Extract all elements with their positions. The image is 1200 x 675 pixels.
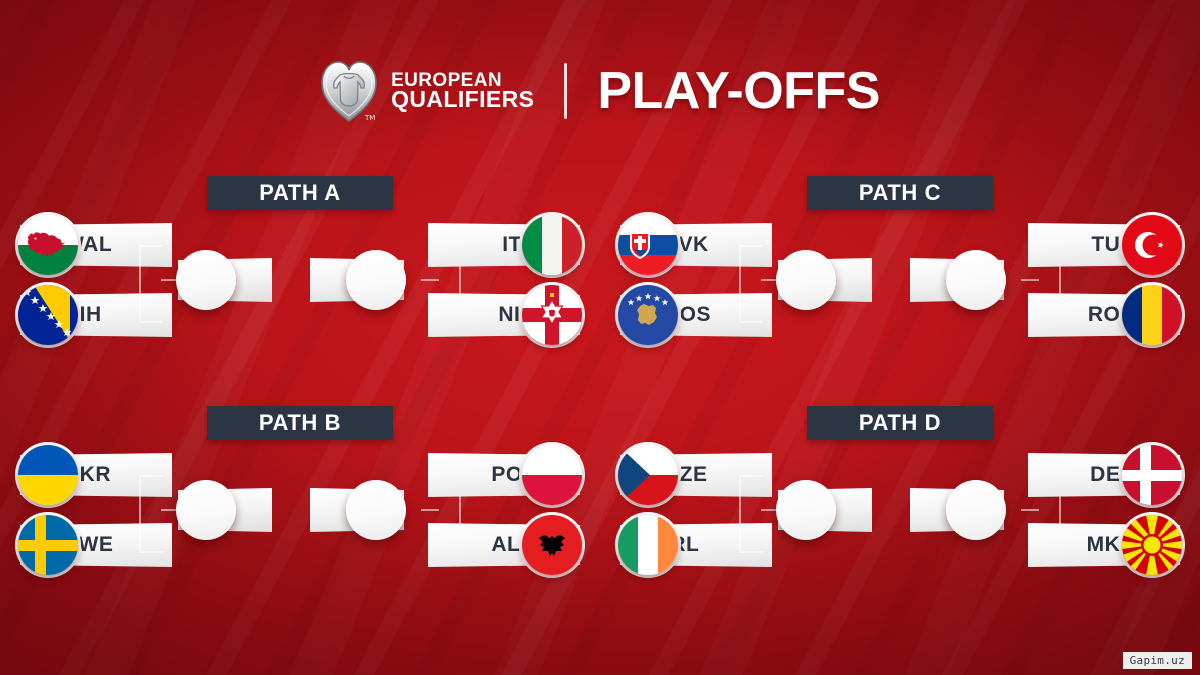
playoff-bracket-graphic: TM EUROPEAN QUALIFIERS PLAY-OFFS PATH A …	[0, 0, 1200, 675]
path-b-stub-right	[421, 509, 439, 511]
flag-ukraine-icon	[18, 445, 78, 505]
flag-north-macedonia-icon	[1122, 515, 1182, 575]
path-a-team-nir[interactable]: NIR	[428, 292, 580, 338]
flag-kosovo-icon	[618, 285, 678, 345]
path-d-final-slot-1[interactable]	[778, 487, 872, 533]
path-d: PATH D CZE IRL DEN	[600, 390, 1200, 620]
empty-flag-placeholder	[346, 250, 406, 310]
path-d-label: PATH D	[807, 406, 993, 440]
path-c-final-slot-2[interactable]	[910, 257, 1004, 303]
flag-albania-icon	[522, 515, 582, 575]
path-b-final-slot-2[interactable]	[310, 487, 404, 533]
path-c: PATH C SVK KOS TUR	[600, 160, 1200, 390]
path-d-stub-right	[1021, 509, 1039, 511]
path-a-connector-left	[139, 245, 163, 323]
path-c-final-slot-1[interactable]	[778, 257, 872, 303]
empty-flag-placeholder	[776, 250, 836, 310]
flag-italy-icon	[522, 215, 582, 275]
paths-grid: PATH A WAL BIH ITA	[0, 160, 1200, 620]
european-qualifiers-wordmark: EUROPEAN QUALIFIERS	[391, 72, 534, 111]
path-d-team-den[interactable]: DEN	[1028, 452, 1180, 498]
path-b-team-alb[interactable]: ALB	[428, 522, 580, 568]
header-divider	[564, 63, 567, 119]
logo-line-2: QUALIFIERS	[391, 89, 534, 110]
flag-czechia-icon	[618, 445, 678, 505]
path-c-team-rou[interactable]: ROU	[1028, 292, 1180, 338]
empty-flag-placeholder	[176, 250, 236, 310]
flag-turkey-icon	[1122, 215, 1182, 275]
flag-sweden-icon	[18, 515, 78, 575]
path-c-team-tur[interactable]: TUR	[1028, 222, 1180, 268]
path-b-label: PATH B	[207, 406, 393, 440]
path-a: PATH A WAL BIH ITA	[0, 160, 600, 390]
flag-denmark-icon	[1122, 445, 1182, 505]
path-d-team-mkd[interactable]: MKD	[1028, 522, 1180, 568]
path-a-label: PATH A	[207, 176, 393, 210]
flag-poland-icon	[522, 445, 582, 505]
path-d-connector-left	[739, 475, 763, 553]
flag-bosnia-icon	[18, 285, 78, 345]
path-b: PATH B UKR SWE POL	[0, 390, 600, 620]
empty-flag-placeholder	[176, 480, 236, 540]
path-b-final-slot-1[interactable]	[178, 487, 272, 533]
european-qualifiers-logo: TM EUROPEAN QUALIFIERS	[320, 58, 534, 124]
watermark: Gapim.uz	[1123, 652, 1192, 669]
flag-ireland-icon	[618, 515, 678, 575]
flag-slovakia-icon	[618, 215, 678, 275]
path-a-team-ita[interactable]: ITA	[428, 222, 580, 268]
page-title: PLAY-OFFS	[597, 61, 880, 121]
uefa-emblem-icon: TM	[320, 58, 378, 124]
path-a-final-slot-1[interactable]	[178, 257, 272, 303]
flag-wales-icon	[18, 215, 78, 275]
path-a-final-slot-2[interactable]	[310, 257, 404, 303]
header: TM EUROPEAN QUALIFIERS PLAY-OFFS	[0, 52, 1200, 130]
path-a-stub-right	[421, 279, 439, 281]
path-c-stub-right	[1021, 279, 1039, 281]
empty-flag-placeholder	[776, 480, 836, 540]
empty-flag-placeholder	[946, 250, 1006, 310]
path-b-connector-left	[139, 475, 163, 553]
flag-romania-icon	[1122, 285, 1182, 345]
empty-flag-placeholder	[346, 480, 406, 540]
empty-flag-placeholder	[946, 480, 1006, 540]
path-c-label: PATH C	[807, 176, 993, 210]
path-c-connector-left	[739, 245, 763, 323]
path-b-team-pol[interactable]: POL	[428, 452, 580, 498]
svg-text:TM: TM	[364, 114, 375, 122]
path-d-final-slot-2[interactable]	[910, 487, 1004, 533]
flag-northern-ireland-icon	[522, 285, 582, 345]
